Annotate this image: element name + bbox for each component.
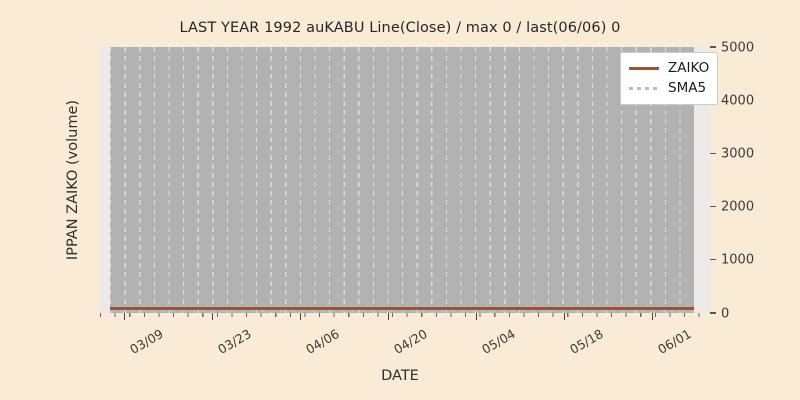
x-tick-mark xyxy=(212,313,213,320)
x-tick-label-0309: 03/09 xyxy=(127,326,166,357)
x-tick-label-0420: 04/20 xyxy=(391,326,430,357)
plot-area xyxy=(100,47,710,313)
chart-figure: LAST YEAR 1992 auKABU Line(Close) / max … xyxy=(0,0,800,400)
x-tick-label-0504: 05/04 xyxy=(479,326,518,357)
y-axis: 0 1000 2000 3000 4000 5000 xyxy=(710,47,790,313)
x-axis: 03/09 03/23 04/06 04/20 05/04 05/18 06/0… xyxy=(100,313,710,327)
legend-item-zaiko[interactable]: ZAIKO xyxy=(629,58,709,78)
chart-title: LAST YEAR 1992 auKABU Line(Close) / max … xyxy=(0,20,800,36)
legend-line-swatch-sma5 xyxy=(629,87,659,90)
x-tick-mark xyxy=(476,313,477,320)
x-tick-mark xyxy=(300,313,301,320)
y-tick-mark xyxy=(710,153,716,154)
legend-line-swatch-zaiko xyxy=(629,67,659,70)
x-tick-label-0518: 05/18 xyxy=(567,326,606,357)
x-tick-label-0323: 03/23 xyxy=(215,326,254,357)
x-tick-mark xyxy=(652,313,653,320)
x-tick-mark xyxy=(124,313,125,320)
plot-background xyxy=(110,47,694,313)
series-line-zaiko xyxy=(110,307,694,310)
y-tick-mark xyxy=(710,46,716,47)
x-tick-label-0601: 06/01 xyxy=(655,326,694,357)
y-tick-mark xyxy=(710,312,716,313)
x-tick-label-0406: 04/06 xyxy=(303,326,342,357)
chart-legend: ZAIKO SMA5 xyxy=(620,52,718,105)
x-axis-title: DATE xyxy=(0,368,800,384)
y-tick-mark xyxy=(710,206,716,207)
y-tick-mark xyxy=(710,259,716,260)
vertical-gridlines xyxy=(110,47,694,313)
x-tick-mark xyxy=(388,313,389,320)
y-axis-title: IPPAN ZAIKO (volume) xyxy=(62,47,84,313)
legend-label-sma5: SMA5 xyxy=(668,80,706,96)
legend-item-sma5[interactable]: SMA5 xyxy=(629,78,709,98)
x-minor-ticks xyxy=(100,313,710,317)
legend-label-zaiko: ZAIKO xyxy=(668,60,709,76)
x-tick-mark xyxy=(564,313,565,320)
